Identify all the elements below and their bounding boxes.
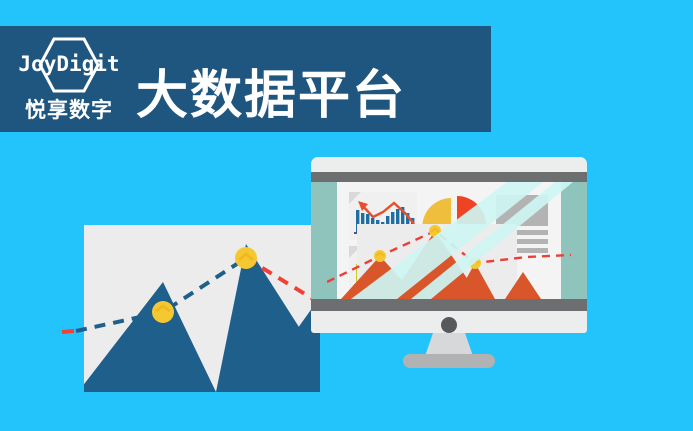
node-3 <box>469 257 481 269</box>
node-center-peak <box>235 247 257 269</box>
node-2 <box>429 225 441 237</box>
monitor-top-bar <box>311 172 587 182</box>
header-band: JoyDigit 悦享数字 大数据平台 <box>0 26 491 132</box>
desktop-monitor <box>311 157 587 383</box>
orange-mountain-chart <box>327 224 571 299</box>
monitor-bottom-bar <box>311 299 587 311</box>
left-trend-line <box>60 215 350 405</box>
node-1 <box>374 250 386 262</box>
monitor-camera-dot <box>441 317 457 333</box>
poster-canvas: JoyDigit 悦享数字 大数据平台 <box>0 0 693 431</box>
node-left-peak <box>152 301 174 323</box>
logo-wordmark: JoyDigit <box>14 52 124 76</box>
doc-image-block <box>496 195 548 226</box>
logo-subtitle: 悦享数字 <box>14 94 124 124</box>
monitor-screen <box>311 182 587 299</box>
monitor-base <box>403 354 495 368</box>
page-title: 大数据平台 <box>136 70 406 122</box>
brand-logo: JoyDigit 悦享数字 <box>14 34 124 124</box>
